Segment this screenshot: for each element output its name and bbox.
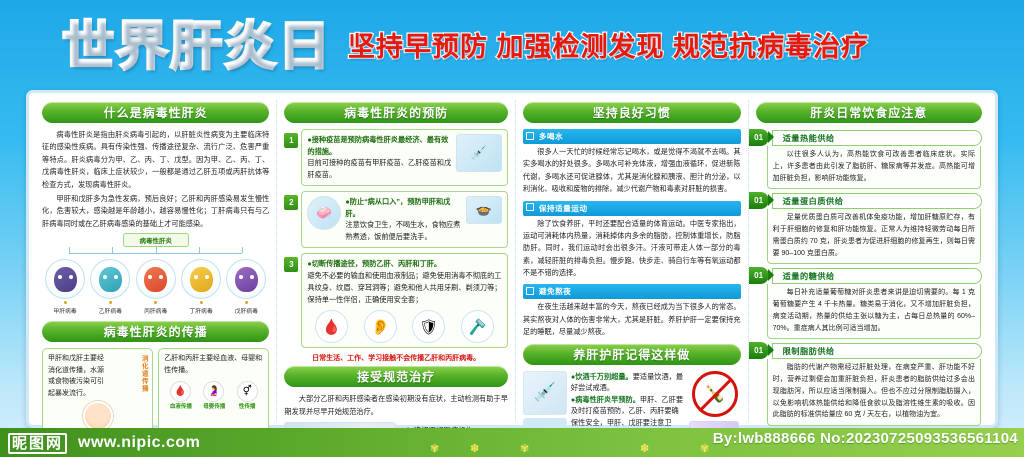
virus-label-hbv: 乙肝病毒 (89, 306, 131, 315)
condom-icon: 🛡 (412, 310, 445, 343)
column-what-is-hepatitis: 什么是病毒性肝炎 病毒性肝炎是指由肝炎病毒引起的，以肝脏炎性病变为主要临床特征的… (35, 100, 276, 421)
prevention-redline-note: 日常生活、工作、学习接触不会传播乙肝和丙肝病毒。 (284, 353, 508, 363)
virus-label-hev: 戊肝病毒 (225, 306, 267, 315)
nipic-logo-text: 昵图网 (8, 433, 67, 454)
blood-route-icons: 🩸 血液传播 🤰 母婴传播 ⚥ 性传播 (164, 381, 263, 410)
prevention-lead-3: ●切断传播途径，预防乙肝、丙肝和丁肝。 (307, 258, 502, 270)
habit-title: 多喝水 (539, 132, 563, 141)
diet-title: 适量的糖供给 (772, 268, 982, 284)
virus-item-hev: 戊肝病毒 (225, 259, 267, 315)
title-band: 世界肝炎日 坚持早预防 加强检测发现 规范抗病毒治疗 (0, 0, 1024, 94)
checkbox-icon (526, 203, 534, 211)
virus-item-hbv: 乙肝病毒 (89, 259, 131, 315)
virus-item-hdv: 丁肝病毒 (180, 259, 222, 315)
diet-text: 每日补充适量葡萄糖对肝炎患者来讲是迫切需要的。每 1 克葡萄糖要产生 4 千卡热… (773, 287, 975, 334)
virus-label-hdv: 丁肝病毒 (180, 306, 222, 315)
flower-decoration-icon: ✾ (430, 442, 439, 455)
virus-diagram: 病毒性肝炎 甲肝病毒 乙肝病毒 (42, 233, 269, 315)
prevention-sub-2: 注意饮食卫生，不喝生水，食物应煮熟煮透，饭前便后要洗手。 (345, 219, 462, 243)
blood-route-label: 血液传播 (170, 402, 192, 410)
diet-entry-sugar: 01 适量的糖供给 每日补充适量葡萄糖对肝炎患者来讲是迫切需要的。每 1 克葡萄… (756, 267, 982, 339)
diet-number-badge: 01 (749, 267, 769, 284)
razor-toothbrush-icon: 🪒 (461, 310, 494, 343)
prevention-sub-1: 目前可接种的疫苗有甲肝疫苗、乙肝疫苗和戊肝疫苗。 (307, 157, 452, 181)
virus-list: 甲肝病毒 乙肝病毒 丙肝病毒 丁肝病毒 (42, 259, 269, 315)
virus-icon-hev (226, 259, 266, 299)
nipic-url: www.nipic.com (78, 434, 200, 452)
diet-entry-energy: 01 适量热能供给 以往很多人认为，高热能饮食可改善患者临床症状。实际上，许多患… (756, 129, 982, 189)
section-header-transmission: 病毒性肝炎的传播 (42, 321, 269, 342)
virus-icon-hbv (90, 259, 130, 299)
prevention-lead-2: ●防止“病从口入”，预防甲肝和戊肝。 (345, 196, 462, 219)
virus-connector-lines (42, 247, 269, 259)
virus-label-hav: 甲肝病毒 (44, 306, 86, 315)
section-header-diet: 肝炎日常饮食应注意 (756, 102, 982, 123)
virus-icon-hdv (181, 259, 221, 299)
diet-title: 适量热能供给 (772, 130, 982, 146)
habit-text-avoid-late-nights: 在夜生活越来越丰富的今天，熬夜已经成为当下很多人的常态。其实熬夜对人体的伤害非常… (523, 301, 741, 338)
prevention-number-2: 2 (284, 195, 298, 210)
diet-text: 脂肪的代谢产物需经过肝脏处理，在病变严重、肝功能不好时，营养过剩便会加重肝脏负担… (773, 362, 975, 421)
checkbox-icon (526, 287, 534, 295)
habit-header-drink-water: 多喝水 (523, 129, 741, 144)
poster-board: 什么是病毒性肝炎 病毒性肝炎是指由肝炎病毒引起的，以肝脏炎性病变为主要临床特征的… (26, 90, 998, 428)
page-subtitle: 坚持早预防 加强检测发现 规范抗病毒治疗 (348, 34, 869, 61)
prevention-item-1: 1 ●接种疫苗是预防病毒性肝炎最经济、最有效的措施。 目前可接种的疫苗有甲肝疫苗… (284, 129, 508, 186)
flower-decoration-icon: ✾ (700, 442, 709, 455)
column-diet: 肝炎日常饮食应注意 01 适量热能供给 以往很多人认为，高热能饮食可改善患者临床… (748, 100, 989, 421)
section-header-liver-care: 养肝护肝记得这样做 (523, 344, 741, 365)
footer-bar: 昵图网 www.nipic.com ✾ ✽ ✾ ✽ ✾ By:lwb888666… (0, 428, 1024, 457)
care-line-strong: ●病毒性肝炎早预防。 (571, 395, 640, 404)
ear-piercing-icon: 👂 (364, 310, 397, 343)
habit-title: 保持适量运动 (539, 204, 588, 213)
prevention-sub-3: 避免不必要的输血和使用血液制品；避免使用消毒不彻底的工具纹身、纹眉、穿耳洞等；避… (307, 270, 502, 306)
diet-title: 适量蛋白质供给 (772, 193, 982, 209)
diet-entry-fat: 01 限制脂肪供给 脂肪的代谢产物需经过肝脏处理，在病变严重、肝功能不好时，营养… (756, 342, 982, 426)
section-header-treatment: 接受规范治疗 (284, 366, 508, 387)
blood-bag-icon: 🩸 (315, 310, 348, 343)
vaccination-icon: 💉 (456, 134, 502, 172)
mother-baby-route-label: 母婴传播 (203, 402, 225, 410)
watermark-text: By:lwb888666 No:20230725093536561104 (713, 430, 1018, 447)
child-face-icon (83, 401, 113, 431)
habit-text-drink-water: 很多人一天忙的时候经常忘记喝水，或是觉得不渴就不去喝。其实多喝水的好处很多。多喝… (523, 146, 741, 196)
prevention-item-3: 3 ●切断传播途径，预防乙肝、丙肝和丁肝。 避免不必要的输血和使用血液制品；避免… (284, 253, 508, 348)
transmission-text-blood: 乙肝和丙肝主要经血液、母婴和性传播。 (164, 353, 263, 376)
what-is-paragraph-1: 病毒性肝炎是指由肝炎病毒引起的，以肝脏炎性病变为主要临床特征的感染性疾病。具有传… (42, 129, 269, 191)
flower-decoration-icon: ✾ (520, 442, 529, 455)
flower-decoration-icon: ✽ (470, 442, 479, 455)
habit-header-avoid-late-nights: 避免熬夜 (523, 284, 741, 299)
care-line: ●饮酒千万别超量。要适量饮酒，最好尝试戒酒。 (571, 371, 685, 394)
prevention-icon-row: 🩸 👂 🛡 🪒 (307, 310, 502, 343)
prevention-item-2: 2 🧼 ●防止“病从口入”，预防甲肝和戊肝。 注意饮食卫生，不喝生水，食物应煮熟… (284, 191, 508, 248)
diet-entry-protein: 01 适量蛋白质供给 足量优质蛋白质可改善机体免疫功能，增加肝糖原贮存，有利于肝… (756, 192, 982, 264)
nipic-logo: 昵图网 (8, 432, 69, 453)
transmission-vertical-label: 消化道传播 (138, 355, 148, 393)
section-header-habits: 坚持良好习惯 (523, 102, 741, 123)
column-good-habits: 坚持良好习惯 多喝水 很多人一天忙的时候经常忘记喝水，或是觉得不渴就不去喝。其实… (515, 100, 748, 421)
virus-icon-hav (45, 259, 85, 299)
diet-title: 限制脂肪供给 (772, 343, 982, 359)
page-title: 世界肝炎日 (62, 21, 332, 73)
boiling-pot-icon: 🍲 (466, 196, 502, 224)
virus-item-hcv: 丙肝病毒 (135, 259, 177, 315)
diet-number-badge: 01 (749, 192, 769, 209)
prevention-number-1: 1 (284, 133, 298, 148)
section-header-what-is: 什么是病毒性肝炎 (42, 102, 269, 123)
gender-icon: ⚥ (237, 381, 258, 402)
virus-item-hav: 甲肝病毒 (44, 259, 86, 315)
prevention-lead-1: ●接种疫苗是预防病毒性肝炎最经济、最有效的措施。 (307, 134, 452, 157)
what-is-paragraph-2: 甲肝和戊肝多为急性发病，预后良好；乙肝和丙肝感染易发生慢性化，危害较大，感染越是… (42, 193, 269, 230)
syringe-icon: 💉 (523, 371, 567, 415)
handwash-icon: 🧼 (307, 196, 341, 230)
prevention-number-3: 3 (284, 257, 298, 272)
diet-number-badge: 01 (749, 129, 769, 146)
care-line-strong: ●饮酒千万别超量。 (571, 372, 633, 381)
virus-icon-hcv (136, 259, 176, 299)
habit-title: 避免熬夜 (539, 287, 571, 296)
sexual-route-label: 性传播 (237, 402, 258, 410)
blood-bag-icon: 🩸 (170, 381, 191, 402)
treatment-paragraph: 大部分乙肝和丙肝感染者在感染初期没有症状，主动检测有助于早期发现并尽早开始规范治… (284, 393, 508, 418)
diet-text: 足量优质蛋白质可改善机体免疫功能，增加肝糖原贮存，有利于肝细胞的修复和肝功能恢复… (773, 212, 975, 259)
virus-diagram-title: 病毒性肝炎 (123, 233, 189, 247)
checkbox-icon (526, 132, 534, 140)
diet-text: 以往很多人认为，高热能饮食可改善患者临床症状。实际上，许多患者由此引发了脂肪肝、… (773, 149, 975, 184)
column-prevention: 病毒性肝炎的预防 1 ●接种疫苗是预防病毒性肝炎最经济、最有效的措施。 目前可接… (276, 100, 515, 421)
no-alcohol-icon: 🍾 (692, 371, 738, 417)
habit-header-exercise: 保持适量运动 (523, 201, 741, 216)
virus-label-hcv: 丙肝病毒 (135, 306, 177, 315)
section-header-prevention: 病毒性肝炎的预防 (284, 102, 508, 123)
mother-baby-icon: 🤰 (203, 381, 224, 402)
flower-decoration-icon: ✽ (640, 442, 649, 455)
diet-number-badge: 01 (749, 342, 769, 359)
transmission-text-digestive: 甲肝和戊肝主要经消化道传播，水源或食物被污染可引起暴发流行。 (48, 353, 109, 399)
habit-text-exercise: 除了饮食养肝，平时还要配合适量的体育运动。中医专家指出，运动可消耗体内热量，消耗… (523, 218, 741, 280)
